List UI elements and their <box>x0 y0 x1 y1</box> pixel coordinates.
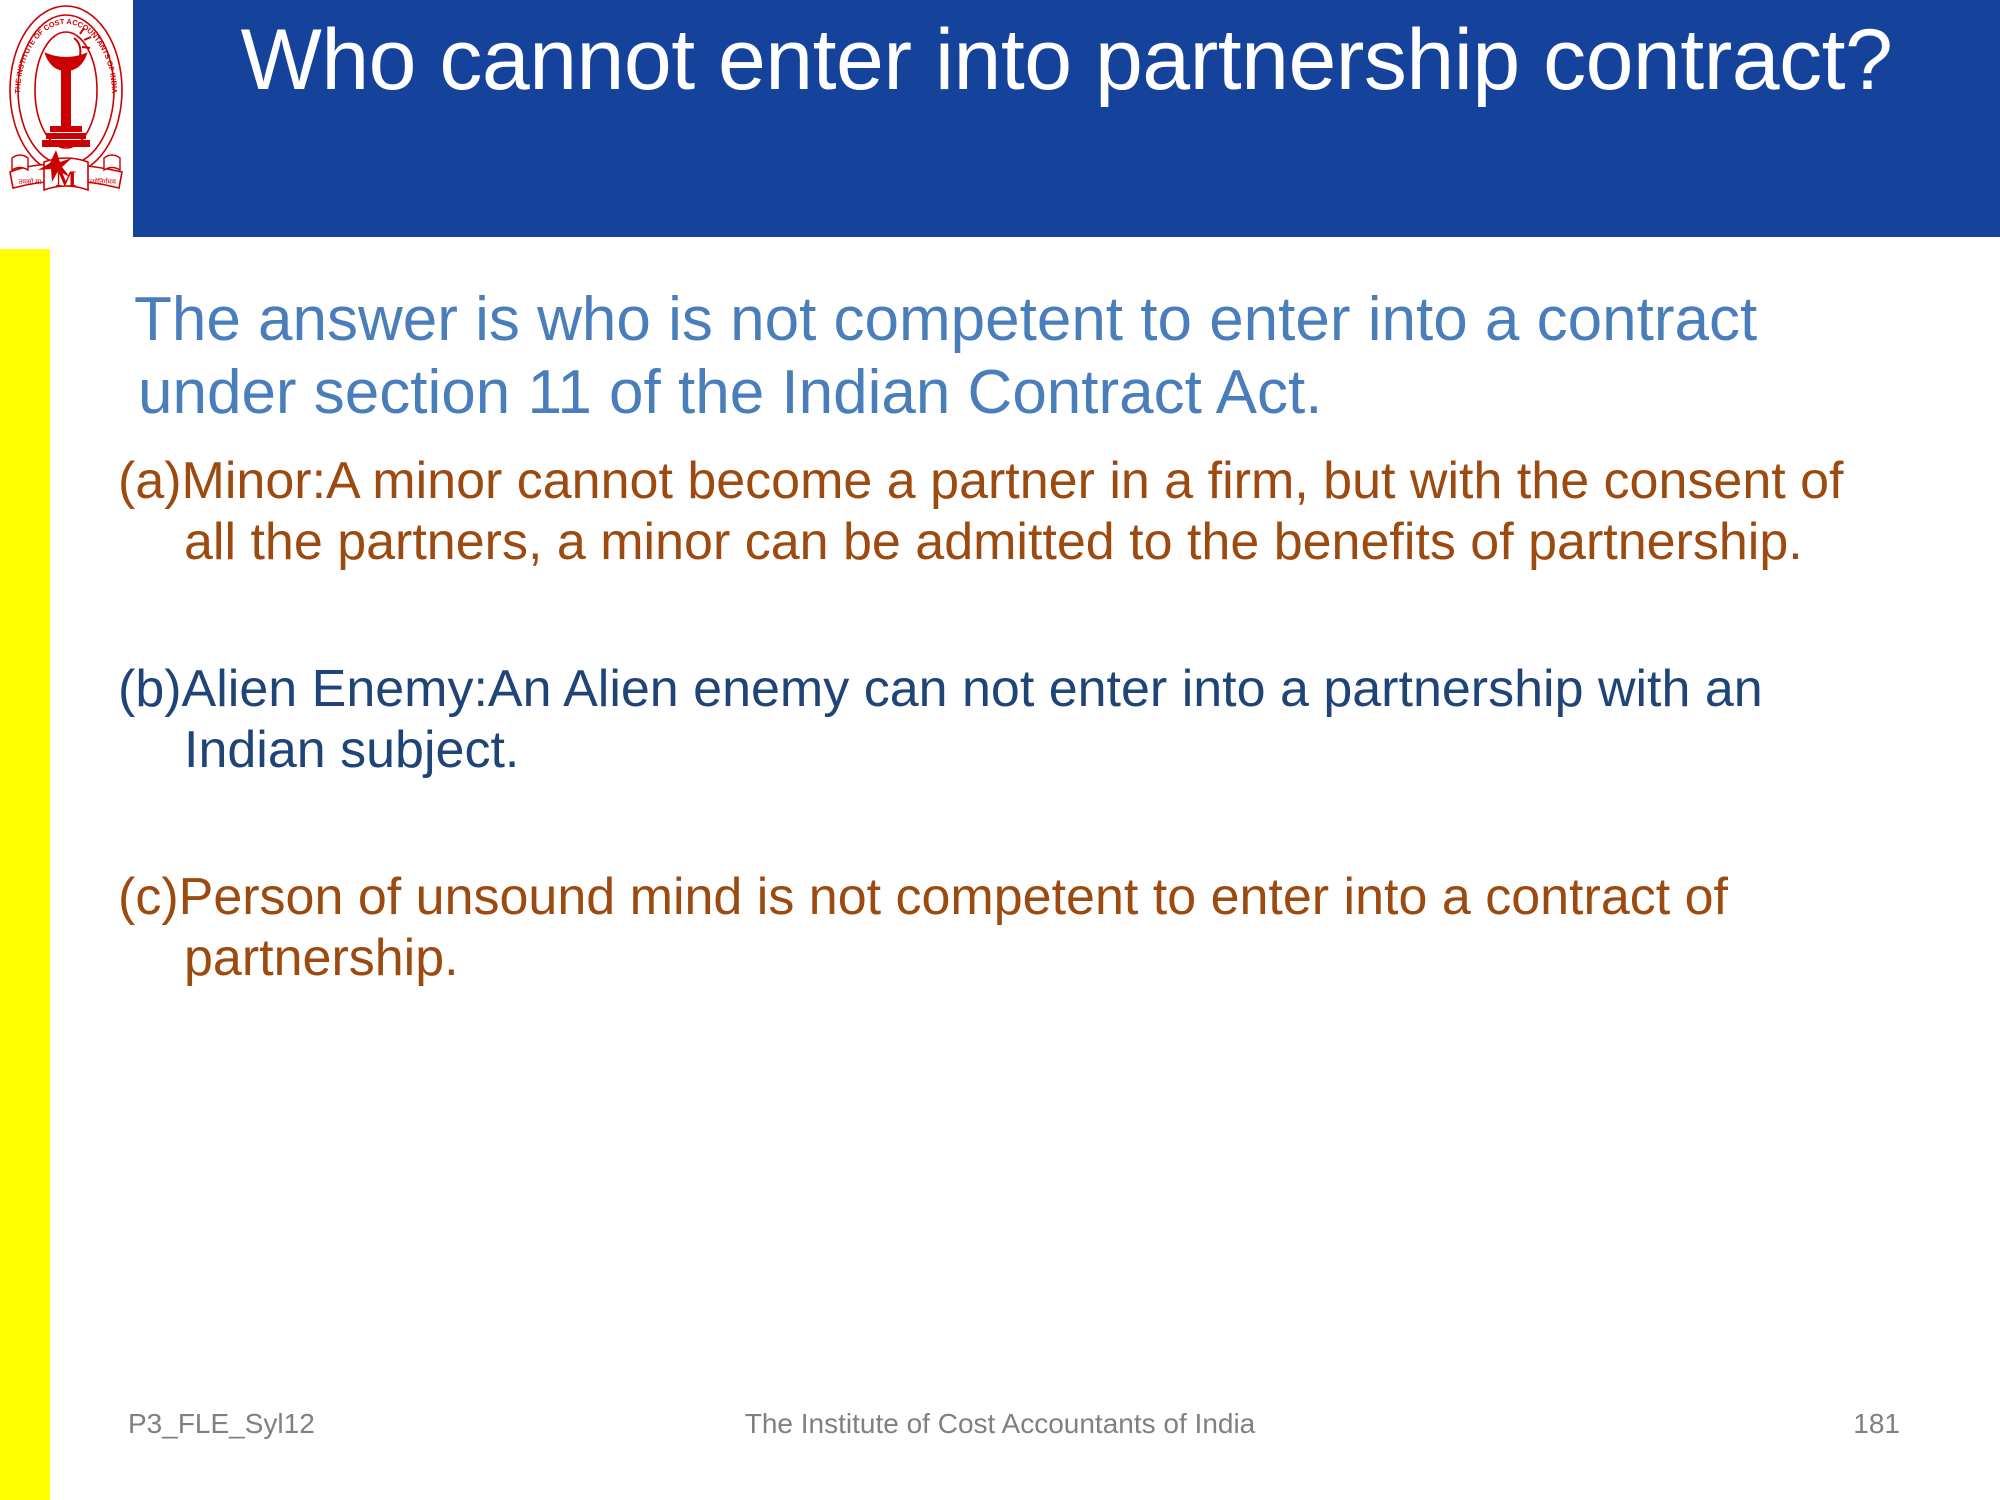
intro-paragraph: The answer is who is not competent to en… <box>118 283 1908 429</box>
left-accent-bar <box>0 249 50 1500</box>
slide: THE INSTITUTE OF COST ACCOUNTANTS OF IND… <box>0 0 2000 1500</box>
list-item-a: (a)Minor:A minor cannot become a partner… <box>118 451 1908 573</box>
list-item-c: (c)Person of unsound mind is not compete… <box>118 867 1908 989</box>
list-item-b: (b)Alien Enemy:An Alien enemy can not en… <box>118 659 1908 781</box>
slide-footer: P3_FLE_Syl12 The Institute of Cost Accou… <box>0 1404 2000 1454</box>
footer-organisation: The Institute of Cost Accountants of Ind… <box>0 1404 2000 1444</box>
slide-body: The answer is who is not competent to en… <box>118 283 1908 989</box>
logo-motto-left: तमसो मा <box>19 177 42 186</box>
logo-motto-right: ज्योतिर्गमय <box>88 177 117 186</box>
footer-page-number: 181 <box>1853 1404 1900 1444</box>
title-band: Who cannot enter into partnership contra… <box>133 0 2000 237</box>
slide-title: Who cannot enter into partnership contra… <box>133 2 2000 118</box>
institute-logo: THE INSTITUTE OF COST ACCOUNTANTS OF IND… <box>4 2 128 198</box>
